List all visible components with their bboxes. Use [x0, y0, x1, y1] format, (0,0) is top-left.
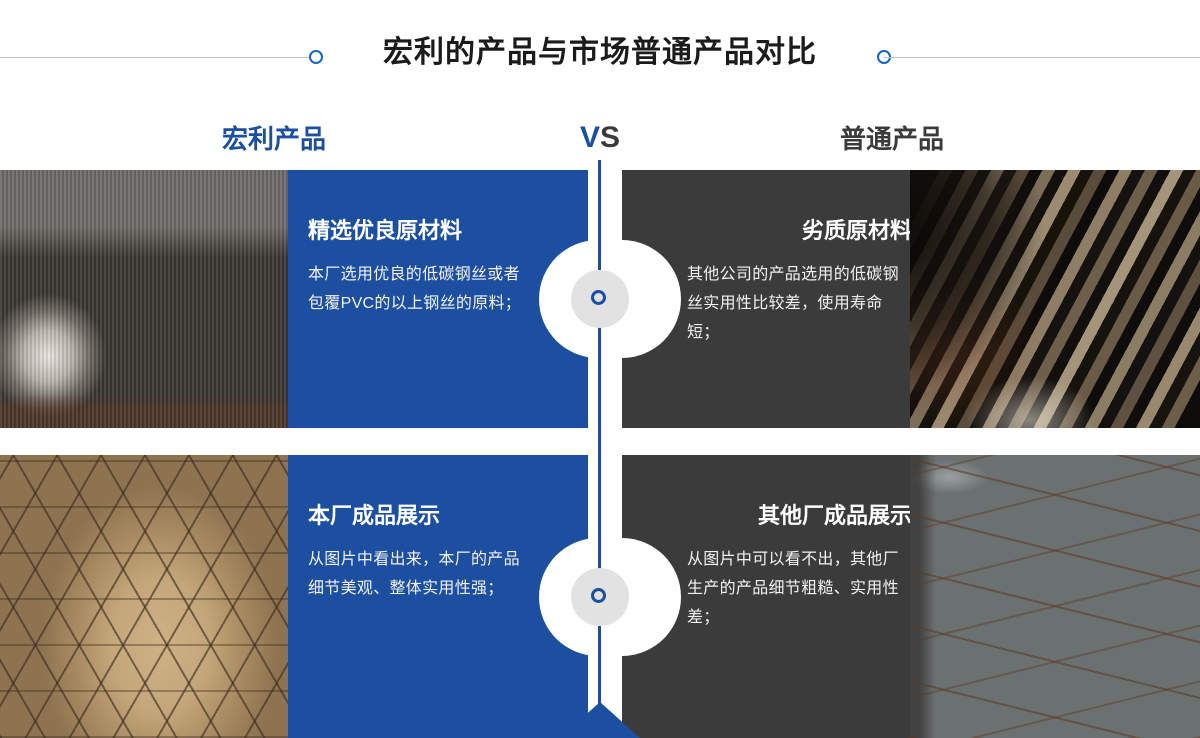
card-right[interactable]: 劣质原材料 其他公司的产品选用的低碳钢丝实用性比较差，使用寿命短；: [622, 170, 932, 428]
card-right-title: 其他厂成品展示: [687, 501, 912, 531]
triangle-down-icon: [560, 702, 640, 738]
card-left-title: 精选优良原材料: [308, 216, 533, 246]
page-header: 宏利的产品与市场普通产品对比: [0, 0, 1200, 110]
card-right-notch: [622, 240, 681, 358]
wire-coils-image: [0, 170, 290, 428]
card-left[interactable]: 精选优良原材料 本厂选用优良的低碳钢丝或者包覆PVC的以上钢丝的原料；: [288, 170, 598, 428]
card-right-content: 其他厂成品展示 从图片中可以看不出，其他厂生产的产品细节粗糙、实用性差；: [687, 501, 912, 632]
vs-letter-s: S: [600, 121, 620, 154]
card-left-content: 精选优良原材料 本厂选用优良的低碳钢丝或者包覆PVC的以上钢丝的原料；: [308, 216, 533, 318]
vs-label: VS: [560, 118, 640, 158]
gabion-boulder-image: [0, 455, 290, 738]
circle-ring-icon: [591, 588, 606, 603]
card-left-content: 本厂成品展示 从图片中看出来，本厂的产品细节美观、整体实用性强；: [308, 501, 533, 603]
card-right-body: 其他公司的产品选用的低碳钢丝实用性比较差，使用寿命短；: [687, 260, 912, 347]
center-hub: [571, 270, 629, 328]
card-left[interactable]: 本厂成品展示 从图片中看出来，本厂的产品细节美观、整体实用性强；: [288, 455, 598, 738]
center-divider-line: [598, 160, 601, 712]
rusty-wire-image: [910, 170, 1200, 428]
photo-right: [910, 455, 1200, 738]
card-right[interactable]: 其他厂成品展示 从图片中可以看不出，其他厂生产的产品细节粗糙、实用性差；: [622, 455, 932, 738]
card-left-title: 本厂成品展示: [308, 501, 533, 531]
card-right-body: 从图片中可以看不出，其他厂生产的产品细节粗糙、实用性差；: [687, 545, 912, 632]
card-left-body: 从图片中看出来，本厂的产品细节美观、整体实用性强；: [308, 545, 533, 603]
card-right-notch: [622, 538, 681, 656]
photo-left: [0, 170, 290, 428]
circle-ring-icon: [591, 290, 606, 305]
card-left-body: 本厂选用优良的低碳钢丝或者包覆PVC的以上钢丝的原料；: [308, 260, 533, 318]
column-caption-left: 宏利产品: [222, 120, 326, 158]
column-caption-right: 普通产品: [840, 120, 944, 158]
title-rule-right: [884, 57, 1200, 58]
card-right-title: 劣质原材料: [687, 216, 912, 246]
page-title: 宏利的产品与市场普通产品对比: [0, 31, 1200, 75]
gabion-stones-image: [910, 455, 1200, 738]
vs-letter-v: V: [580, 121, 600, 154]
photo-right: [910, 170, 1200, 428]
card-right-content: 劣质原材料 其他公司的产品选用的低碳钢丝实用性比较差，使用寿命短；: [687, 216, 912, 347]
photo-left: [0, 455, 290, 738]
center-hub: [571, 568, 629, 626]
